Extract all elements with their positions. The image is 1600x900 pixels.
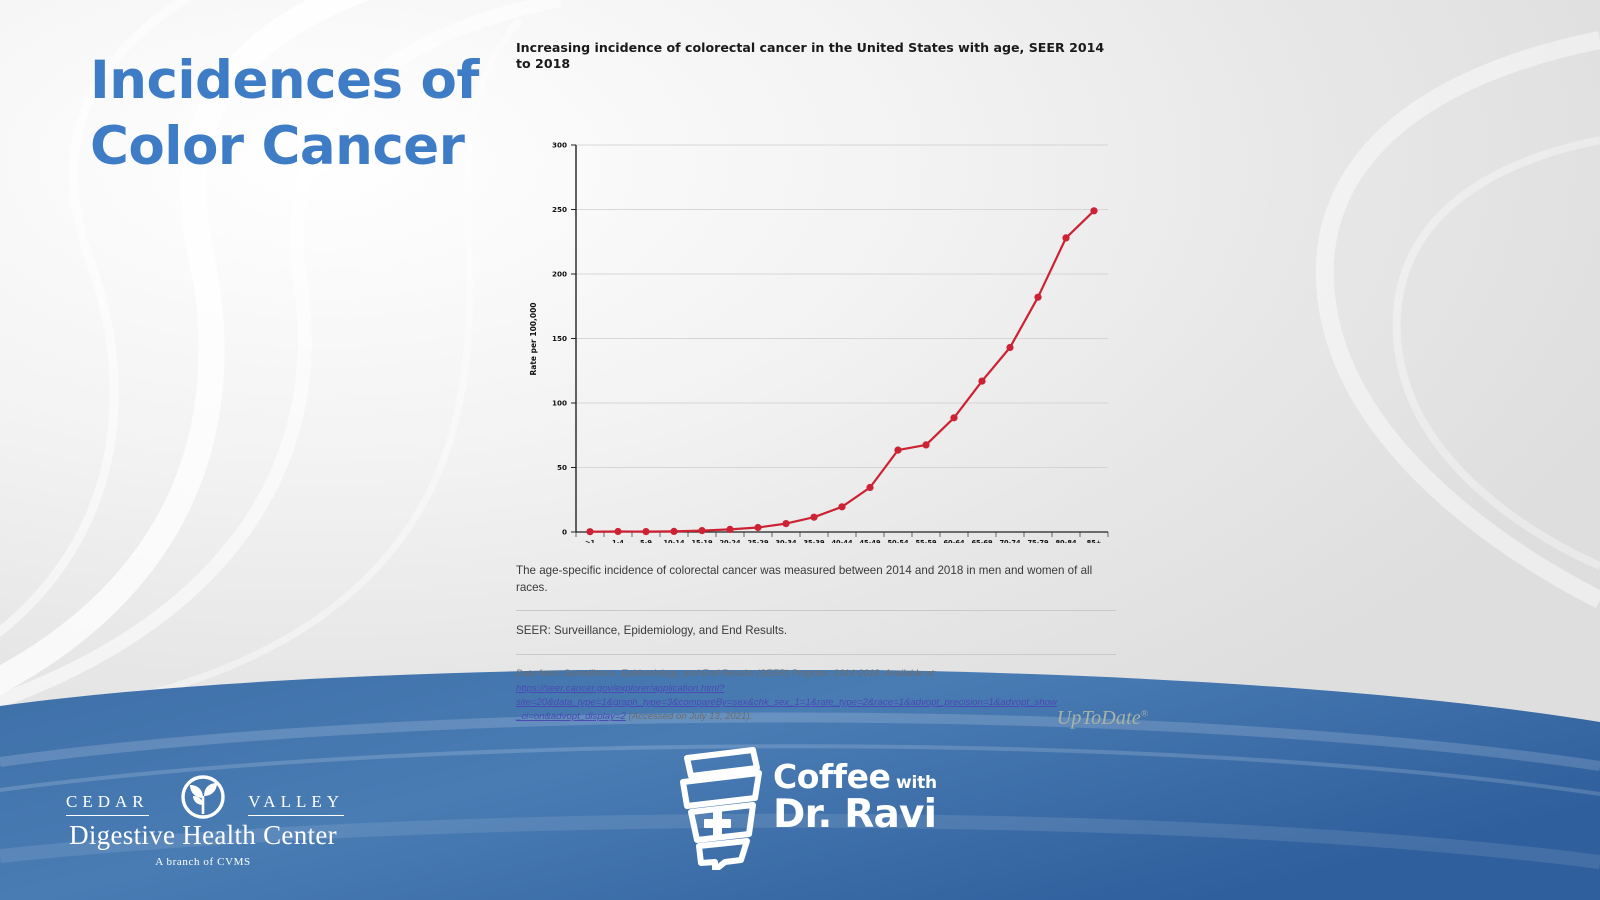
svg-text:25-29: 25-29	[747, 539, 769, 543]
chart-gridlines	[576, 145, 1108, 468]
svg-text:35-39: 35-39	[803, 539, 825, 543]
svg-text:5-9: 5-9	[640, 539, 652, 543]
uptodate-wordmark: UpToDate	[1057, 707, 1141, 729]
chart-data-point	[922, 441, 929, 448]
svg-text:100: 100	[552, 398, 567, 407]
source-prefix-text: Data from: Surveillance, Epidemiology, a…	[516, 668, 937, 679]
chart-data-point	[1034, 293, 1041, 300]
cedar-valley-logo: CEDAR VALLEY Digestive Health Center A b…	[58, 776, 348, 868]
svg-text:1-4: 1-4	[612, 539, 624, 543]
chart-data-point	[950, 414, 957, 421]
figure-title: Increasing incidence of colorectal cance…	[516, 40, 1116, 73]
chart-y-axis-ticks: 050100150200250300	[552, 140, 576, 536]
svg-text:80-84: 80-84	[1055, 539, 1077, 543]
svg-text:30-34: 30-34	[775, 539, 797, 543]
slide-title-line2: Color Cancer	[90, 114, 510, 180]
svg-text:60-64: 60-64	[943, 539, 965, 543]
chart-data-point	[838, 503, 845, 510]
svg-text:150: 150	[552, 334, 567, 343]
svg-text:75-79: 75-79	[1027, 539, 1049, 543]
chart-data-point	[754, 524, 761, 531]
incidence-line-chart: 050100150200250300 >11-45-910-1415-1920-…	[516, 83, 1120, 543]
figure-source: Data from: Surveillance, Epidemiology, a…	[516, 667, 1116, 725]
source-url-line-1[interactable]: https://seer.cancer.gov/explorer/applica…	[516, 683, 724, 694]
chart-y-axis-label: Rate per 100,000	[529, 302, 538, 375]
slide-title-line1: Incidences of	[90, 50, 479, 111]
chart-data-line	[590, 211, 1094, 532]
svg-text:>1: >1	[585, 539, 596, 543]
figure-caption: The age-specific incidence of colorectal…	[516, 563, 1108, 597]
chart-data-point	[614, 528, 621, 535]
tree-leaf-icon	[175, 774, 231, 820]
svg-text:70-74: 70-74	[999, 539, 1021, 543]
chart-data-point	[726, 526, 733, 533]
svg-text:15-19: 15-19	[691, 539, 713, 543]
svg-text:0: 0	[562, 527, 567, 536]
svg-text:200: 200	[552, 269, 567, 278]
svg-text:85+: 85+	[1087, 539, 1102, 543]
chart-data-point	[586, 528, 593, 535]
podcast-title-coffee: Coffee	[773, 757, 890, 796]
podcast-title-with: with	[896, 773, 937, 793]
registered-mark-icon: ®	[1141, 708, 1148, 718]
svg-text:250: 250	[552, 205, 567, 214]
practice-subtitle: A branch of CVMS	[58, 856, 348, 868]
figure-abbreviation: SEER: Surveillance, Epidemiology, and En…	[516, 623, 1120, 640]
svg-text:300: 300	[552, 140, 567, 149]
source-accessed-text: (Accessed on July 13, 2021).	[626, 711, 752, 722]
coffee-with-dr-ravi-wordmark: Coffee with Dr. Ravi	[773, 760, 937, 837]
chart-x-axis-ticks: >11-45-910-1415-1920-2425-2930-3435-3940…	[576, 532, 1108, 543]
chart-data-point	[978, 377, 985, 384]
svg-text:50-54: 50-54	[887, 539, 909, 543]
svg-text:65-69: 65-69	[971, 539, 993, 543]
practice-name: Digestive Health Center	[58, 820, 348, 851]
cedar-valley-wordmark-row: CEDAR VALLEY	[58, 776, 348, 816]
podcast-title-dr-ravi: Dr. Ravi	[773, 793, 937, 837]
chart-container: 050100150200250300 >11-45-910-1415-1920-…	[516, 83, 1120, 543]
chart-data-point	[810, 513, 817, 520]
valley-word: VALLEY	[248, 792, 344, 816]
chart-data-point	[894, 446, 901, 453]
cedar-word: CEDAR	[66, 792, 149, 816]
source-url-line-2[interactable]: site=20&data_type=1&graph_type=3&compare…	[516, 697, 1057, 708]
source-url-line-3[interactable]: _ci=on&advopt_display=2	[516, 711, 626, 722]
uptodate-watermark: UpToDate®	[1057, 703, 1148, 733]
chart-data-point	[698, 527, 705, 534]
figure-divider-1	[516, 610, 1116, 611]
presentation-slide: Incidences of Color Cancer Increasing in…	[0, 0, 1600, 900]
coffee-cup-icon	[665, 742, 775, 870]
chart-data-point	[866, 484, 873, 491]
svg-text:55-59: 55-59	[915, 539, 937, 543]
chart-data-point	[670, 528, 677, 535]
chart-data-points	[586, 207, 1097, 535]
chart-data-point	[782, 520, 789, 527]
figure-panel: Increasing incidence of colorectal cance…	[516, 40, 1120, 725]
chart-data-point	[642, 528, 649, 535]
chart-data-point	[1006, 344, 1013, 351]
chart-data-point	[1062, 234, 1069, 241]
svg-text:10-14: 10-14	[663, 539, 685, 543]
svg-text:40-44: 40-44	[831, 539, 853, 543]
slide-title: Incidences of Color Cancer	[90, 48, 510, 179]
svg-text:20-24: 20-24	[719, 539, 741, 543]
coffee-with-dr-ravi-logo: Coffee with Dr. Ravi	[665, 742, 965, 882]
figure-divider-2	[516, 654, 1116, 655]
svg-text:45-49: 45-49	[859, 539, 881, 543]
svg-text:50: 50	[557, 463, 567, 472]
chart-data-point	[1090, 207, 1097, 214]
podcast-title-line1-row: Coffee with	[773, 760, 937, 793]
